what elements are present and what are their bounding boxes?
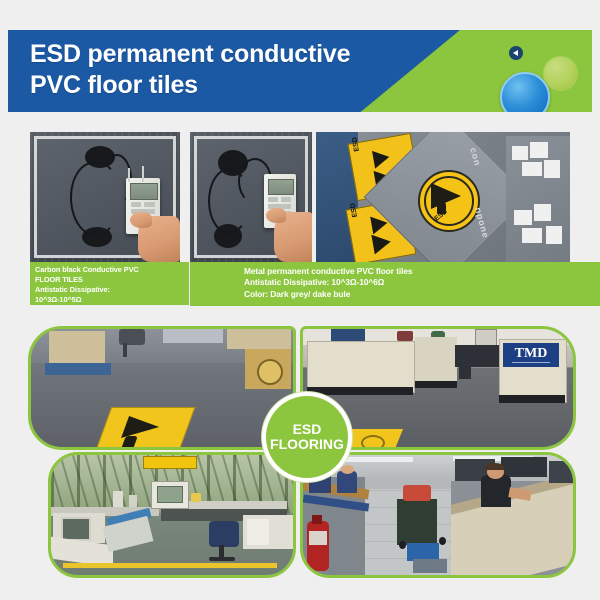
decor-circle-olive bbox=[543, 56, 578, 91]
gallery-photo-warehouse-floor bbox=[28, 326, 296, 450]
page-title: ESD permanent conductive PVC floor tiles bbox=[30, 39, 430, 100]
badge-line1: ESD bbox=[293, 422, 322, 437]
product-photo-metal-test bbox=[190, 132, 312, 262]
caption-carbon-black: Carbon black Conductive PVC FLOOR TILES … bbox=[30, 262, 189, 305]
esd-warning-icon: ESD bbox=[418, 170, 480, 232]
badge-line2: FLOORING bbox=[270, 437, 344, 452]
caption-line: FLOOR TILES bbox=[35, 275, 185, 285]
caption-line: Antistatic Dissipative: bbox=[35, 285, 185, 295]
caption-line: Color: Dark grey/ dake bule bbox=[244, 289, 600, 300]
caption-line: Antistatic Dissipative: 10^3Ω-10^6Ω bbox=[244, 277, 600, 288]
caption-line: Carbon black Conductive PVC bbox=[35, 265, 185, 275]
tmd-sign-text: TMD bbox=[515, 347, 548, 361]
gallery-photo-production-aisle bbox=[300, 452, 576, 578]
play-left-icon bbox=[509, 46, 523, 60]
gallery-photo-laboratory bbox=[48, 452, 296, 578]
page-title-line1: ESD permanent conductive bbox=[30, 39, 430, 70]
header-banner: ESD permanent conductive PVC floor tiles bbox=[8, 30, 592, 112]
product-photo-carbon-black bbox=[30, 132, 180, 262]
caption-metal-permanent: Metal permanent conductive PVC floor til… bbox=[190, 262, 600, 306]
caption-line: Metal permanent conductive PVC floor til… bbox=[244, 266, 600, 277]
esd-flooring-badge: ESD FLOORING bbox=[262, 392, 352, 482]
product-photo-esd-tiles: ESD ESD ESD con npone bbox=[316, 132, 570, 262]
page-title-line2: PVC floor tiles bbox=[30, 70, 430, 101]
poster-root: ESD permanent conductive PVC floor tiles bbox=[0, 0, 600, 600]
tmd-sign: TMD bbox=[503, 343, 559, 367]
esd-marker-tile bbox=[95, 407, 196, 450]
caption-line: 10^3Ω-10^5Ω bbox=[35, 295, 185, 305]
